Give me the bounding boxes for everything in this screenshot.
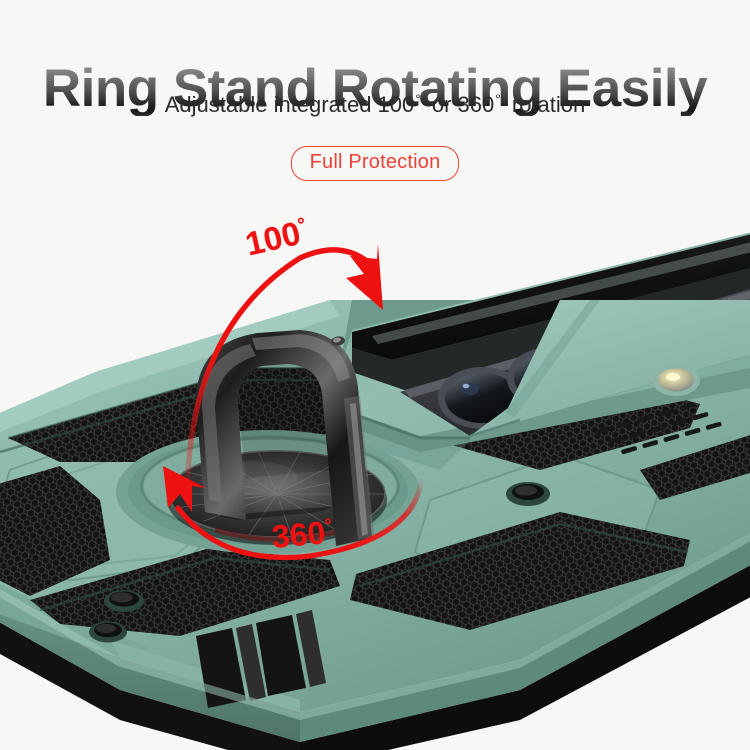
degree-symbol-360: ° [495,91,501,107]
badge-container: Full Protection [0,146,750,181]
led-flash [652,364,700,396]
degree-symbol-100: ° [415,91,421,107]
annotation-label-360: 360° [271,516,334,553]
ring-stand-arch [196,330,374,546]
subtitle-part3: rotation [512,92,585,117]
subtitle-part2: or 360 [432,92,494,117]
product-marketing-banner: Ring Stand Rotating Easily Adjustable in… [0,0,750,750]
subtitle: Adjustable integrated 100°or 360°rotatio… [0,92,750,118]
annotation-degree-360: ° [324,514,333,536]
status-badge: Full Protection [291,146,460,181]
annotation-value-360: 360 [270,514,326,555]
phone-case-body [0,230,750,750]
subtitle-part1: Adjustable integrated 100 [165,92,415,117]
